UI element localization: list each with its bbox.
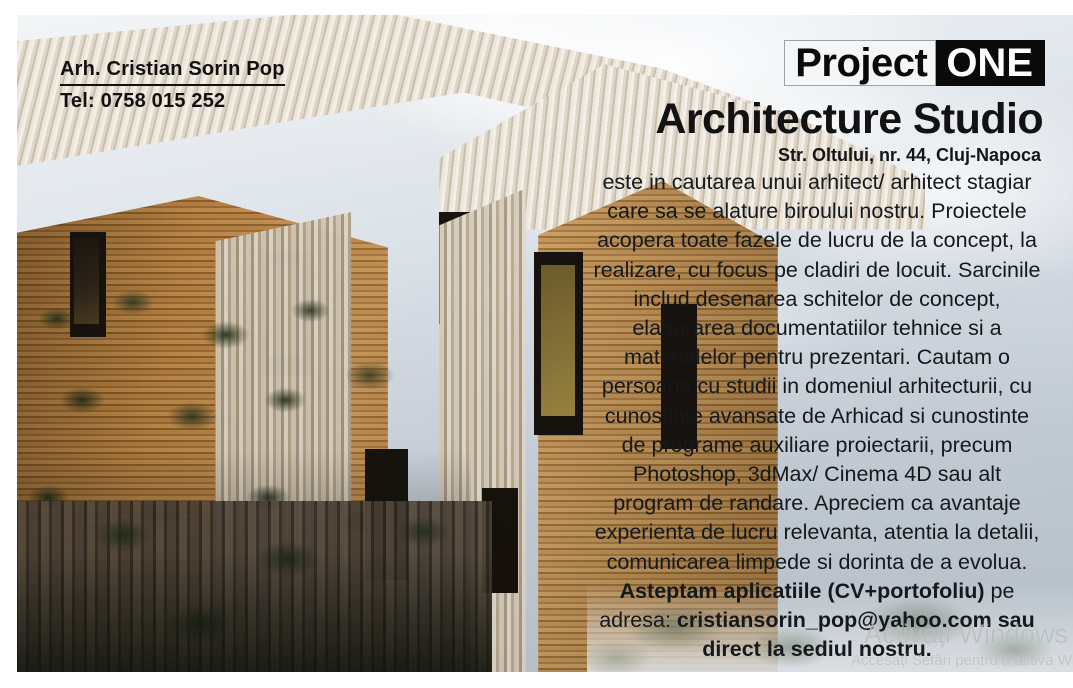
studio-address: Str. Oltului, nr. 44, Cluj-Napoca [778, 145, 1041, 166]
windows-activation-watermark: Activați Windows Accesați Setări pentru … [851, 619, 1073, 670]
watermark-title: Activați Windows [851, 619, 1073, 649]
advert-bold-call: Asteptam aplicatiile (CV+portofoliu) [620, 579, 985, 603]
poster-canvas: Arh. Cristian Sorin Pop Tel: 0758 015 25… [0, 0, 1073, 688]
watermark-subtitle: Accesați Setări pentru a activa Windows. [851, 651, 1073, 670]
contact-block: Arh. Cristian Sorin Pop Tel: 0758 015 25… [60, 58, 285, 113]
brand-logo: Project ONE [784, 40, 1045, 86]
advert-paragraph: este in cautarea unui arhitect/ arhitect… [594, 170, 1041, 574]
brand-word-project: Project [784, 40, 936, 86]
brand-word-one: ONE [936, 40, 1045, 86]
studio-title: Architecture Studio [655, 95, 1043, 144]
job-advert-text: este in cautarea unui arhitect/ arhitect… [591, 168, 1043, 664]
architect-phone: Tel: 0758 015 252 [60, 90, 285, 113]
architect-name: Arh. Cristian Sorin Pop [60, 58, 285, 86]
